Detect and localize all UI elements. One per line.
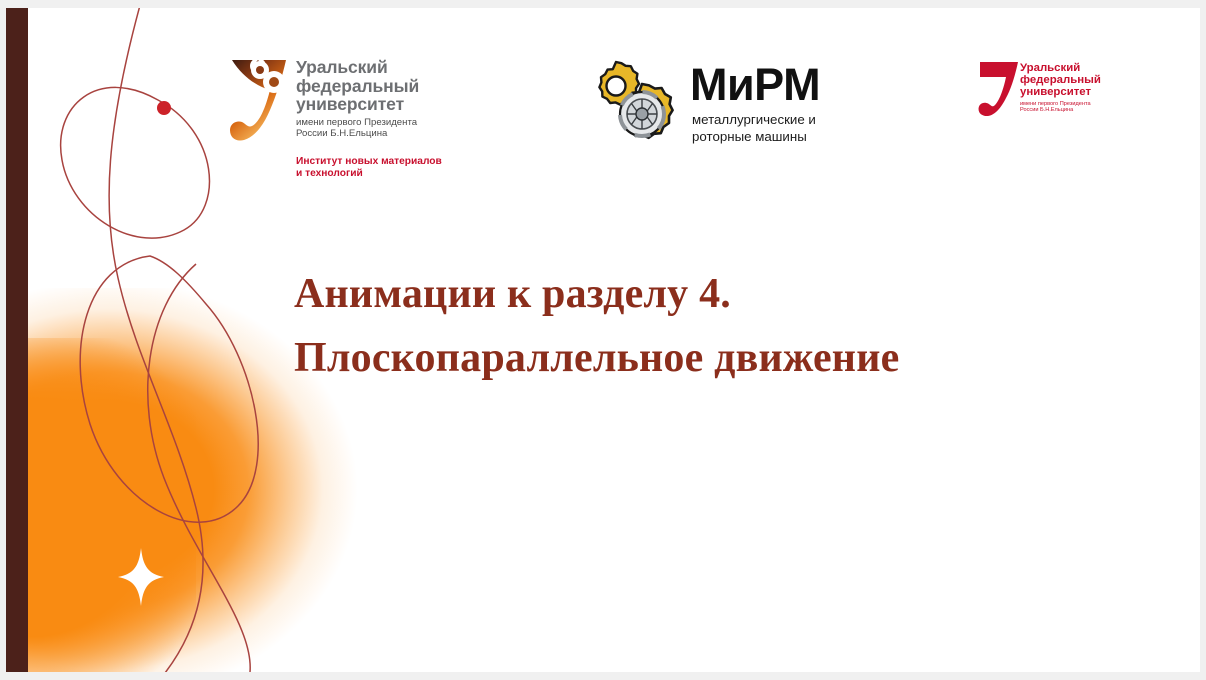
mirm-subtitle-line-1: металлургические и <box>692 112 850 129</box>
urfu-red-name-line-2: федеральный <box>1020 74 1120 86</box>
urfu-name-line-3: университет <box>296 95 460 114</box>
urfu-institute-text: Уральский федеральный университет имени … <box>296 58 460 139</box>
logo-mirm: МиРМ металлургические и роторные машины <box>584 60 846 156</box>
urfu-subtitle-line-2: России Б.Н.Ельцина <box>296 128 460 139</box>
orange-gradient-blob-inner <box>6 338 196 672</box>
presentation-slide: Уральский федеральный университет имени … <box>0 0 1206 680</box>
urfu-name-line-1: Уральский <box>296 58 460 77</box>
urfu-name-line-2: федеральный <box>296 77 460 96</box>
urfu-red-subtitle-line-2: России Б.Н.Ельцина <box>1020 107 1120 114</box>
mirm-subtitle: металлургические и роторные машины <box>692 112 850 145</box>
urfu-red-name-line-3: университет <box>1020 86 1120 98</box>
urfu-subtitle-line-1: имени первого Президента <box>296 117 460 128</box>
urfu-red-name-line-1: Уральский <box>1020 62 1120 74</box>
mirm-acronym: МиРМ <box>690 62 820 108</box>
urfu-institute-line-2: и технологий <box>296 168 464 180</box>
logo-urfu-red: Уральский федеральный университет имени … <box>978 60 1118 138</box>
urfu-red-subtitle-line-1: имени первого Президента <box>1020 101 1120 108</box>
sparkle-icon <box>118 548 164 606</box>
slide-canvas: Уральский федеральный университет имени … <box>6 8 1200 672</box>
urfu-mark-icon <box>228 56 292 144</box>
urfu-red-mark-icon <box>978 60 1022 118</box>
slide-title-line-2: Плоскопараллельное движение <box>294 326 1084 390</box>
logo-urfu-institute: Уральский федеральный университет имени … <box>228 52 460 186</box>
urfu-institute-line-1: Институт новых материалов <box>296 156 464 168</box>
logo-row: Уральский федеральный университет имени … <box>6 8 1200 198</box>
slide-title: Анимации к разделу 4. Плоскопараллельное… <box>294 262 1084 390</box>
mirm-subtitle-line-2: роторные машины <box>692 129 850 146</box>
mirm-gears-icon <box>584 60 686 156</box>
urfu-institute-name: Институт новых материалов и технологий <box>296 156 464 181</box>
slide-title-line-1: Анимации к разделу 4. <box>294 262 1084 326</box>
urfu-red-text: Уральский федеральный университет имени … <box>1020 62 1120 114</box>
